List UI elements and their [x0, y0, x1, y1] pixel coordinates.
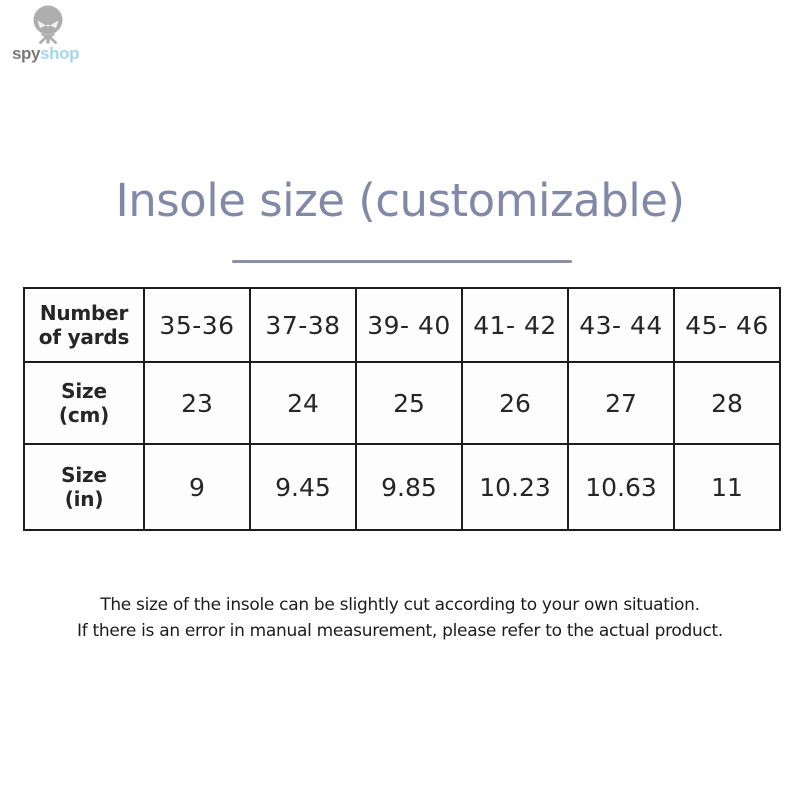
cell-in-5: 10.63: [568, 444, 674, 530]
brand-word-shop: shop: [40, 44, 79, 63]
cell-cm-6: 28: [674, 362, 780, 444]
cell-cm-3: 25: [356, 362, 462, 444]
cell-yards-5: 43- 44: [568, 288, 674, 362]
cell-yards-1: 35-36: [144, 288, 250, 362]
cell-in-3: 9.85: [356, 444, 462, 530]
footnote: The size of the insole can be slightly c…: [0, 592, 800, 644]
brand-word-spy: spy: [12, 44, 40, 63]
table-row: Size (in) 9 9.45 9.85 10.23 10.63 11: [24, 444, 780, 530]
cell-cm-4: 26: [462, 362, 568, 444]
cell-in-1: 9: [144, 444, 250, 530]
brand-wordmark: spyshop: [12, 44, 92, 63]
cell-yards-3: 39- 40: [356, 288, 462, 362]
spy-mascot-icon: [28, 4, 68, 46]
row-label-size-in: Size (in): [24, 444, 144, 530]
brand-logo: spyshop: [12, 4, 92, 66]
cell-cm-1: 23: [144, 362, 250, 444]
insole-size-table: Number of yards 35-36 37-38 39- 40 41- 4…: [23, 287, 781, 531]
row-label-number-of-yards: Number of yards: [24, 288, 144, 362]
footnote-line-1: The size of the insole can be slightly c…: [0, 592, 800, 618]
cell-yards-2: 37-38: [250, 288, 356, 362]
title-divider: [232, 260, 572, 263]
cell-yards-4: 41- 42: [462, 288, 568, 362]
cell-cm-2: 24: [250, 362, 356, 444]
cell-yards-6: 45- 46: [674, 288, 780, 362]
cell-in-4: 10.23: [462, 444, 568, 530]
cell-cm-5: 27: [568, 362, 674, 444]
cell-in-6: 11: [674, 444, 780, 530]
row-label-size-cm: Size (cm): [24, 362, 144, 444]
table-row: Number of yards 35-36 37-38 39- 40 41- 4…: [24, 288, 780, 362]
size-chart-page: spyshop Insole size (customizable) Numbe…: [0, 0, 800, 800]
cell-in-2: 9.45: [250, 444, 356, 530]
table-row: Size (cm) 23 24 25 26 27 28: [24, 362, 780, 444]
page-title: Insole size (customizable): [0, 174, 800, 227]
footnote-line-2: If there is an error in manual measureme…: [0, 618, 800, 644]
